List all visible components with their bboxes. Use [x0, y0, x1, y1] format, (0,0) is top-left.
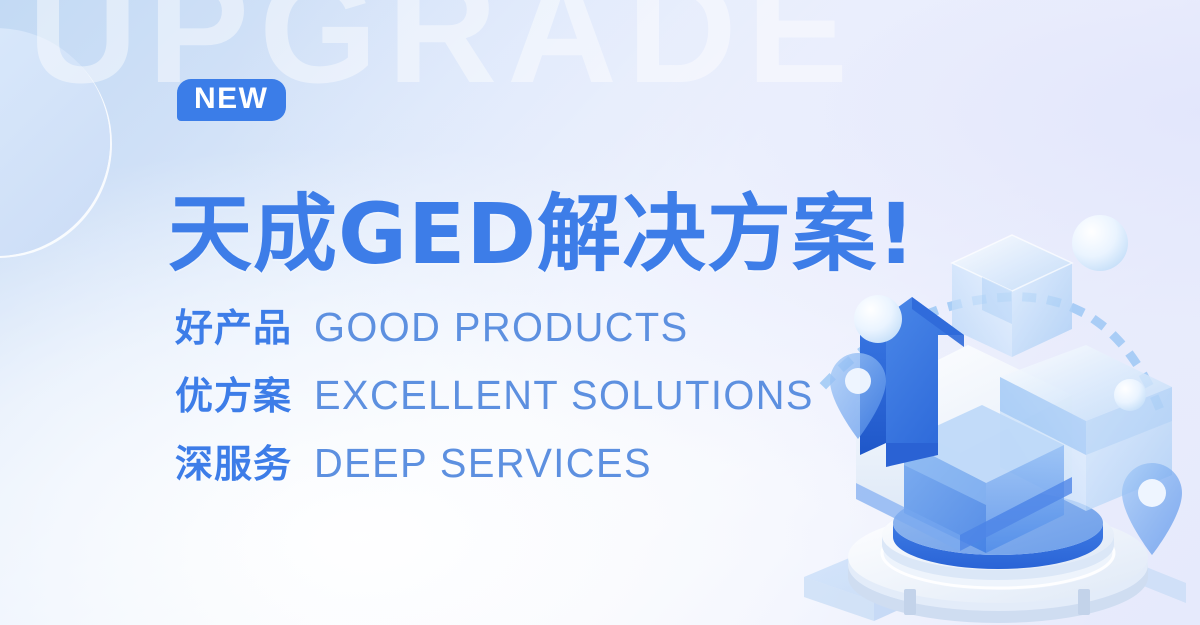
- list-item: 深服务 DEEP SERVICES: [175, 433, 829, 501]
- new-badge: NEW: [177, 79, 286, 121]
- list-item: 好产品 GOOD PRODUCTS: [175, 297, 829, 365]
- feature-label-en: GOOD PRODUCTS: [314, 304, 689, 351]
- feature-label-en: DEEP SERVICES: [314, 440, 652, 487]
- page-title: 天成GED解决方案!: [168, 190, 916, 279]
- feature-label-cn: 深服务: [175, 433, 292, 488]
- feature-label-cn: 好产品: [175, 297, 292, 352]
- list-item: 优方案 EXCELLENT SOLUTIONS: [175, 365, 829, 433]
- feature-label-cn: 优方案: [175, 365, 292, 420]
- banner-content: NEW 天成GED解决方案! 好产品 GOOD PRODUCTS 优方案 EXC…: [0, 0, 1200, 625]
- feature-label-en: EXCELLENT SOLUTIONS: [314, 372, 814, 419]
- feature-list: 好产品 GOOD PRODUCTS 优方案 EXCELLENT SOLUTION…: [175, 297, 829, 501]
- promo-banner: UPGRADE NEW 天成GED解决方案! 好产品 GOOD PRODUCTS…: [0, 0, 1200, 625]
